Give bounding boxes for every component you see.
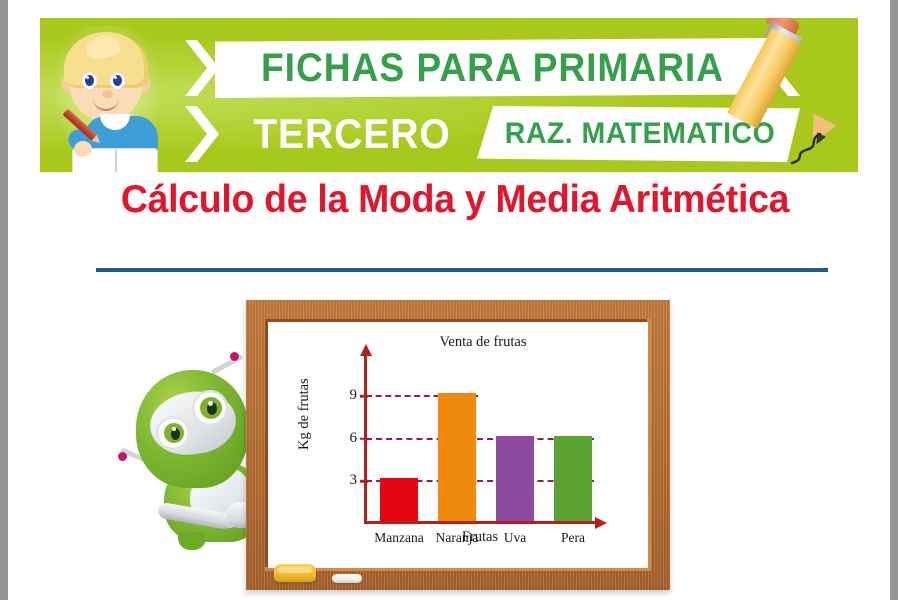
y-tick-label-9: 9	[350, 388, 358, 405]
x-tick-label-uva: Uva	[504, 530, 527, 546]
chart-title: Venta de frutas	[268, 334, 648, 351]
bar-manzana	[380, 478, 418, 521]
y-tick-label-6: 6	[350, 430, 358, 447]
bar-naranja	[438, 393, 476, 521]
squiggle-icon	[750, 132, 826, 166]
banner-title-line1: FICHAS PARA PRIMARIA	[244, 42, 742, 94]
page-edge-right	[890, 0, 898, 600]
boy-writing-illustration	[48, 24, 166, 172]
chevron-left-icon	[181, 38, 223, 98]
banner-ribbon-row-1: FICHAS PARA PRIMARIA	[185, 38, 800, 98]
y-tick-label-3: 3	[350, 473, 358, 490]
bar-pera	[554, 436, 592, 521]
whiteboard-surface: Venta de frutas Kg de frutas Frutas 369M…	[268, 322, 648, 568]
page-edge-left	[0, 0, 8, 600]
pencil-illustration	[744, 22, 852, 172]
worksheet-page: FICHAS PARA PRIMARIA TERCERO RAZ. MATEMA…	[0, 0, 898, 600]
page-title: Cálculo de la Moda y Media Aritmética	[76, 178, 834, 222]
board-eraser	[274, 564, 316, 582]
title-divider	[96, 268, 828, 272]
x-tick-label-pera: Pera	[561, 530, 585, 546]
chart-plot-area: 369ManzanaNaranjaUvaPera	[364, 368, 596, 524]
header-banner: FICHAS PARA PRIMARIA TERCERO RAZ. MATEMA…	[40, 18, 858, 172]
bar-uva	[496, 436, 534, 521]
banner-grade-label: TERCERO	[236, 107, 469, 161]
bar-chart: Venta de frutas Kg de frutas Frutas 369M…	[268, 322, 648, 568]
x-tick-label-naranja: Naranja	[436, 530, 479, 546]
chevron-left-icon-2	[181, 104, 223, 164]
chalk-piece	[332, 574, 362, 583]
chart-x-axis	[364, 521, 602, 524]
x-tick-label-manzana: Manzana	[374, 530, 423, 546]
x-axis-arrow-icon	[595, 517, 607, 529]
whiteboard-frame: Venta de frutas Kg de frutas Frutas 369M…	[246, 300, 670, 590]
y-axis-arrow-icon	[360, 344, 372, 356]
chart-y-axis-label: Kg de frutas	[296, 378, 313, 450]
banner-ribbon-row-2: TERCERO RAZ. MATEMATICO	[185, 104, 800, 164]
